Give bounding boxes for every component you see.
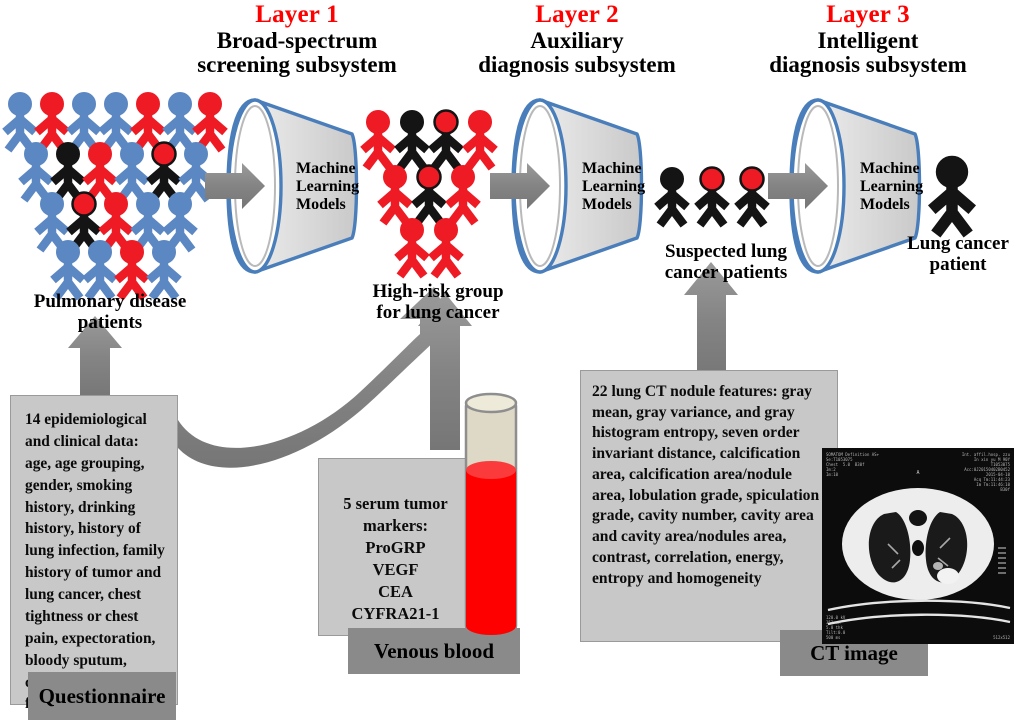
- caption-pulmonary-patients: Pulmonary disease patients: [10, 292, 210, 334]
- funnel-1-label-line3: Models: [296, 196, 366, 214]
- layer-1-title-line1: Broad-spectrum: [185, 29, 409, 53]
- serum-markers-box: 5 serum tumor markers: ProGRP VEGF CEA C…: [318, 458, 473, 636]
- funnel-2-label-line3: Models: [582, 196, 652, 214]
- caption-suspected-patients: Suspected lung cancer patients: [638, 242, 814, 284]
- ct-meta-bottom-right: 512x512: [993, 635, 1010, 640]
- ct-image-tag-label: CT image: [810, 641, 898, 666]
- ct-features-text: 22 lung CT nodule features: gray mean, g…: [592, 382, 828, 589]
- ct-meta-top-right: Int. affil.hosp. zzu In xin yu M 90Y T10…: [962, 452, 1010, 492]
- funnel-2-label-line1: Machine: [582, 160, 652, 178]
- venous-blood-tag-label: Venous blood: [374, 639, 494, 664]
- patient-lung-cancer-confirmed: [932, 156, 973, 234]
- arrow-to-funnel-1: [205, 163, 265, 209]
- questionnaire-tag: Questionnaire: [28, 672, 176, 720]
- caption-highrisk-line1: High-risk group: [352, 282, 524, 303]
- caption-lung-cancer-patient: Lung cancer patient: [896, 234, 1020, 276]
- layer-header-2: Layer 2 Auxiliary diagnosis subsystem: [455, 2, 699, 77]
- layer-3-title-line2: diagnosis subsystem: [740, 53, 996, 77]
- caption-pulmonary-line2: patients: [10, 313, 210, 334]
- caption-confirmed-line2: patient: [896, 255, 1020, 276]
- funnel-3-label: Machine Learning Models: [860, 160, 930, 215]
- diagram-canvas: Layer 1 Broad-spectrum screening subsyst…: [0, 0, 1020, 724]
- crowd-high-risk-group: [363, 111, 495, 277]
- layer-2-title-line2: diagnosis subsystem: [455, 53, 699, 77]
- layer-header-3: Layer 3 Intelligent diagnosis subsystem: [740, 2, 996, 77]
- crowd-suspected-patients: [657, 168, 767, 226]
- caption-highrisk-line2: for lung cancer: [352, 303, 524, 324]
- arrow-to-funnel-2: [490, 163, 550, 209]
- layer-header-1: Layer 1 Broad-spectrum screening subsyst…: [185, 2, 409, 77]
- ct-features-box: 22 lung CT nodule features: gray mean, g…: [580, 370, 838, 642]
- funnel-3-label-line1: Machine: [860, 160, 930, 178]
- layer-2-tag: Layer 2: [455, 2, 699, 29]
- questionnaire-box: 14 epidemiological and clinical data: ag…: [10, 395, 178, 705]
- funnel-1-label-line2: Learning: [296, 178, 366, 196]
- ct-meta-top-left: SOMATOM Definition AS+ Se:T1053075 Chest…: [826, 452, 879, 477]
- caption-suspected-line2: cancer patients: [638, 263, 814, 284]
- funnel-2-label: Machine Learning Models: [582, 160, 652, 215]
- layer-3-title-line1: Intelligent: [740, 29, 996, 53]
- arrow-to-funnel-3: [768, 163, 828, 209]
- funnel-3-label-line3: Models: [860, 196, 930, 214]
- caption-confirmed-line1: Lung cancer: [896, 234, 1020, 255]
- layer-3-tag: Layer 3: [740, 2, 996, 29]
- funnel-1-label: Machine Learning Models: [296, 160, 366, 215]
- caption-high-risk-group: High-risk group for lung cancer: [352, 282, 524, 324]
- questionnaire-tag-label: Questionnaire: [39, 684, 166, 709]
- venous-blood-tag: Venous blood: [348, 628, 520, 674]
- funnel-3-label-line2: Learning: [860, 178, 930, 196]
- funnel-2-label-line2: Learning: [582, 178, 652, 196]
- caption-pulmonary-line1: Pulmonary disease: [10, 292, 210, 313]
- ct-meta-bottom-left: 120.0 kV 352 mA 5.0 thk Tilt:0.0 500 ms: [826, 615, 845, 640]
- crowd-pulmonary-patients: [5, 93, 225, 299]
- serum-markers-text: 5 serum tumor markers: ProGRP VEGF CEA C…: [327, 493, 464, 647]
- layer-2-title-line1: Auxiliary: [455, 29, 699, 53]
- caption-suspected-line1: Suspected lung: [638, 242, 814, 263]
- svg-text:A: A: [916, 470, 919, 476]
- ct-scan-image: A SOMATOM Definition AS+ Se:T1053075 Che…: [822, 448, 1014, 644]
- layer-1-tag: Layer 1: [185, 2, 409, 29]
- questionnaire-text: 14 epidemiological and clinical data: ag…: [25, 409, 167, 715]
- layer-1-title-line2: screening subsystem: [185, 53, 409, 77]
- funnel-1-label-line1: Machine: [296, 160, 366, 178]
